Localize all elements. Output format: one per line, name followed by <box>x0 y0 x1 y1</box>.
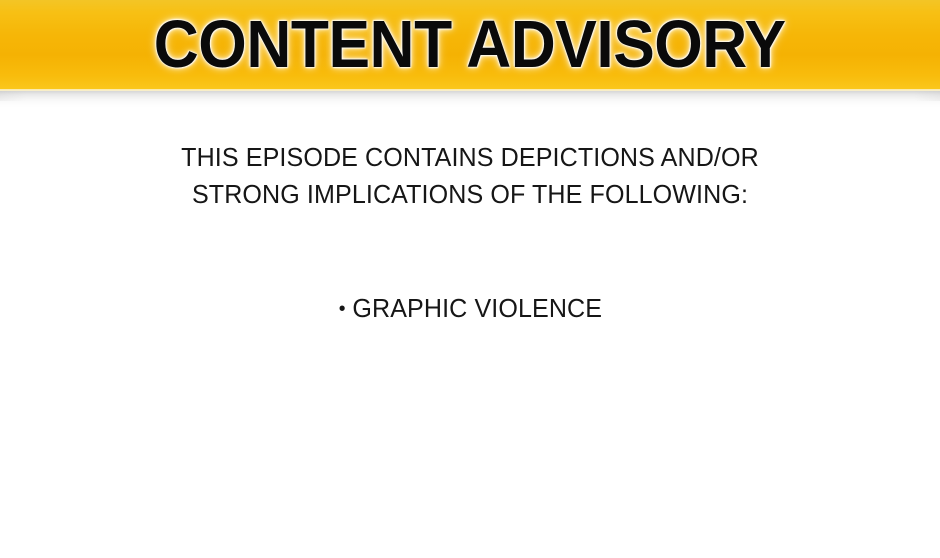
banner-edge-shadow <box>0 91 940 101</box>
content-advisory-slide: CONTENT ADVISORY THIS EPISODE CONTAINS D… <box>0 0 940 558</box>
page-title: CONTENT ADVISORY <box>154 11 786 78</box>
bullet-icon: • <box>338 292 345 326</box>
advisory-item-list: •GRAPHIC VIOLENCE <box>0 291 940 326</box>
banner-background: CONTENT ADVISORY <box>0 0 940 89</box>
advisory-intro-line-1: THIS EPISODE CONTAINS DEPICTIONS AND/OR <box>16 139 923 176</box>
advisory-intro-line-2: STRONG IMPLICATIONS OF THE FOLLOWING: <box>16 176 923 213</box>
list-item: •GRAPHIC VIOLENCE <box>338 291 601 326</box>
advisory-item-label: GRAPHIC VIOLENCE <box>352 293 602 323</box>
advisory-intro-text: THIS EPISODE CONTAINS DEPICTIONS AND/OR … <box>0 139 940 213</box>
advisory-banner: CONTENT ADVISORY <box>0 0 940 89</box>
